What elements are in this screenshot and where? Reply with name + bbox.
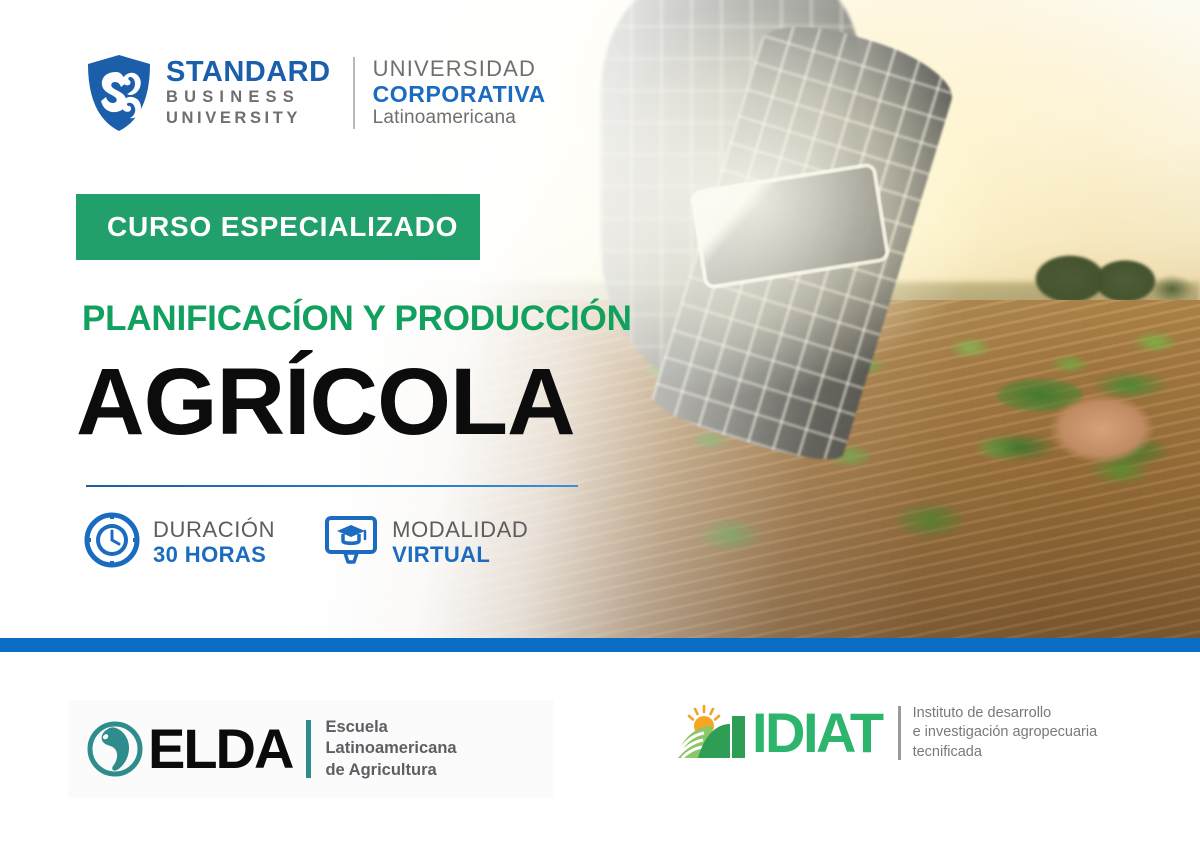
brand-name-line1: STANDARD — [166, 58, 331, 87]
hero-section: STANDARD BUSINESS UNIVERSITY UNIVERSIDAD… — [0, 0, 1200, 638]
course-details-row: DURACIÓN 30 HORAS MODALIDAD — [84, 512, 528, 573]
partner-logo-elda: ELDA Escuela Latinoamericana de Agricult… — [68, 700, 554, 798]
course-type-badge-label: CURSO ESPECIALIZADO — [107, 211, 458, 243]
detail-duration: DURACIÓN 30 HORAS — [84, 512, 275, 573]
course-title: AGRÍCOLA — [76, 355, 575, 450]
detail-modality-value: VIRTUAL — [392, 542, 528, 568]
shield-lion-icon — [86, 54, 152, 132]
logo-divider — [353, 57, 355, 129]
detail-modality-text: MODALIDAD VIRTUAL — [392, 517, 528, 568]
course-subtitle: PLANIFICACÍON Y PRODUCCIÓN — [82, 299, 632, 339]
partner-idiat-divider — [898, 706, 901, 760]
brand-logo-lockup: STANDARD BUSINESS UNIVERSITY UNIVERSIDAD… — [86, 54, 546, 132]
partner-elda-tagline-line2: Latinoamericana — [325, 738, 456, 759]
partner-elda-tagline-line1: Escuela — [325, 717, 456, 738]
partner-logo-idiat: IDIAT Instituto de desarrollo e investig… — [676, 702, 1097, 764]
detail-modality: MODALIDAD VIRTUAL — [323, 512, 528, 573]
partner-elda-tagline-line3: de Agricultura — [325, 760, 456, 781]
brand-name-block: STANDARD BUSINESS UNIVERSITY — [166, 58, 331, 128]
partner-idiat-acronym: IDIAT — [752, 705, 882, 761]
partner-elda-acronym: ELDA — [148, 721, 292, 777]
sun-fields-icon — [676, 702, 750, 764]
partner-idiat-tagline-line2: e investigación agropecuaria — [913, 723, 1098, 743]
blue-divider-band — [0, 638, 1200, 652]
globe-latin-america-icon — [86, 720, 144, 778]
title-underline-rule — [86, 485, 578, 487]
partner-idiat-tagline-line1: Instituto de desarrollo — [913, 704, 1098, 724]
detail-duration-value: 30 HORAS — [153, 542, 275, 568]
course-type-badge: CURSO ESPECIALIZADO — [76, 194, 480, 260]
brand-name-line3: UNIVERSITY — [166, 108, 331, 129]
partner-idiat-tagline-line3: tecnificada — [913, 743, 1098, 763]
monitor-graduation-cap-icon — [323, 512, 379, 573]
brand-sub-line2: CORPORATIVA — [373, 81, 546, 107]
brand-sub-line3: Latinoamericana — [373, 107, 546, 129]
brand-subname-block: UNIVERSIDAD CORPORATIVA Latinoamericana — [373, 56, 546, 130]
detail-duration-text: DURACIÓN 30 HORAS — [153, 517, 275, 568]
partner-elda-tagline: Escuela Latinoamericana de Agricultura — [325, 717, 456, 780]
detail-duration-label: DURACIÓN — [153, 517, 275, 542]
partner-idiat-tagline: Instituto de desarrollo e investigación … — [913, 704, 1098, 763]
brand-sub-line1: UNIVERSIDAD — [373, 56, 546, 81]
partner-elda-divider — [306, 720, 311, 778]
footer-partners-section: ELDA Escuela Latinoamericana de Agricult… — [0, 652, 1200, 864]
clock-icon — [84, 512, 140, 573]
detail-modality-label: MODALIDAD — [392, 517, 528, 542]
brand-name-line2: BUSINESS — [166, 87, 331, 108]
course-promo-banner: STANDARD BUSINESS UNIVERSITY UNIVERSIDAD… — [0, 0, 1200, 864]
